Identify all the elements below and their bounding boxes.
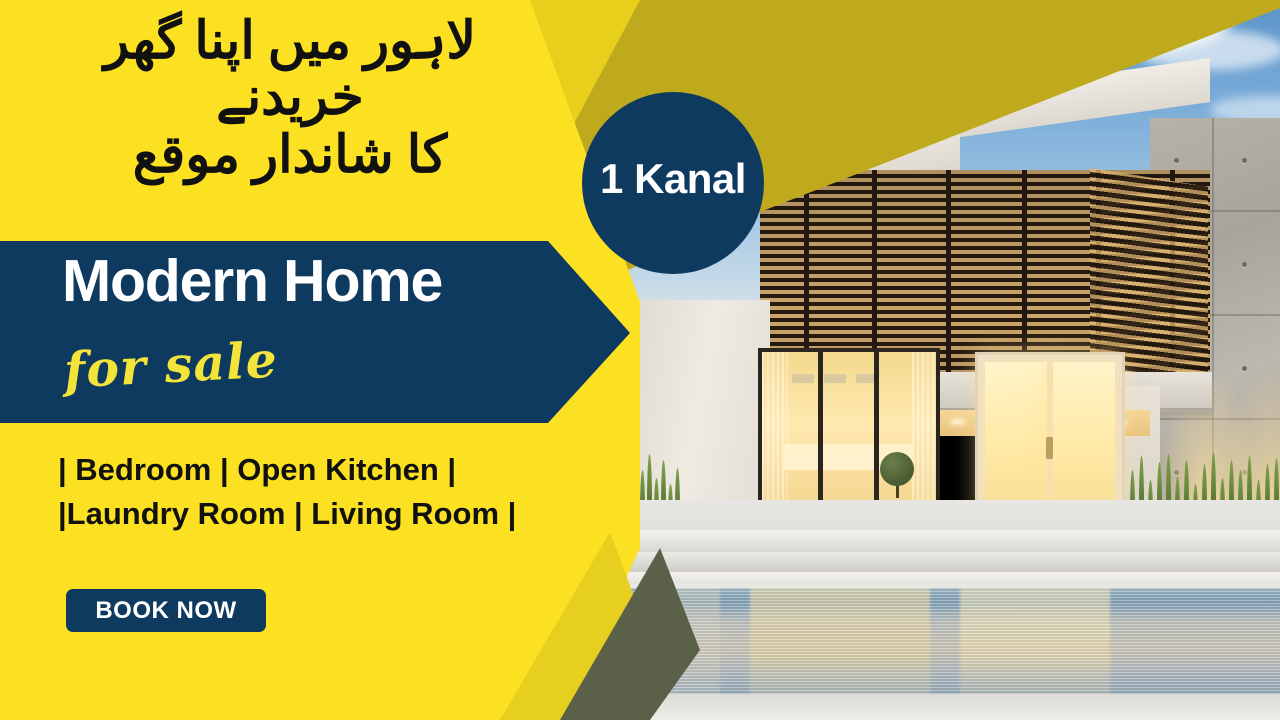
page-title: Modern Home: [62, 252, 442, 311]
door-handle: [1046, 437, 1053, 459]
urdu-headline: لاہور میں اپنا گھر خریدنے کا شاندار موقع: [30, 14, 550, 184]
subtitle: for sale: [63, 330, 280, 399]
features-line-1: | Bedroom | Open Kitchen |: [58, 448, 603, 492]
urdu-headline-line2: کا شاندار موقع: [30, 128, 550, 184]
reflecting-pool: [620, 588, 1280, 700]
advertisement-banner: لاہور میں اپنا گھر خریدنے کا شاندار موقع…: [0, 0, 1280, 720]
pool-deck: [620, 694, 1280, 720]
step: [620, 552, 1280, 572]
step: [620, 530, 1280, 552]
size-badge-label: 1 Kanal: [582, 155, 764, 203]
book-now-button[interactable]: BOOK NOW: [66, 589, 266, 632]
urdu-headline-line1: لاہور میں اپنا گھر خریدنے: [30, 14, 550, 126]
features-list: | Bedroom | Open Kitchen | |Laundry Room…: [58, 448, 603, 536]
features-line-2: |Laundry Room | Living Room |: [58, 492, 603, 536]
